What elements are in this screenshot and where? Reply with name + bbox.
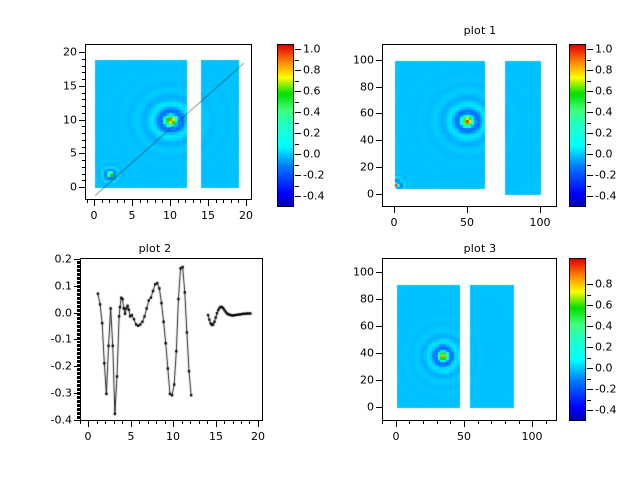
x-tick-minor [396, 421, 397, 424]
y-tick-label: -0.2 [30, 360, 72, 373]
y-tick-label: 80 [332, 81, 374, 94]
y-tick-minor [77, 418, 80, 419]
y-tick-minor [82, 72, 85, 73]
colorbar-tick-minor [587, 81, 591, 82]
y-tick-major [79, 86, 85, 87]
panel-top-right-heatmap [383, 45, 557, 207]
y-tick-major [376, 353, 382, 354]
x-tick-label: 0 [391, 216, 398, 229]
colorbar-tick [295, 49, 301, 50]
x-tick-minor [505, 421, 506, 424]
x-tick-minor [200, 200, 201, 203]
colorbar-tick [295, 70, 301, 71]
y-tick-minor [77, 287, 80, 288]
colorbar-tick-minor [587, 144, 591, 145]
y-tick-minor [77, 319, 80, 320]
x-tick-minor [409, 421, 410, 424]
colorbar-tick-label: 0.6 [595, 299, 613, 312]
colorbar-tick-label: 0.8 [595, 278, 613, 291]
colorbar-tick-label: 1.0 [595, 43, 613, 56]
y-tick-major [376, 299, 382, 300]
colorbar-tick [587, 154, 593, 155]
y-tick-label: 5 [35, 147, 77, 160]
x-tick-minor [532, 421, 533, 424]
colorbar-tick-minor [587, 165, 591, 166]
colorbar-tick [587, 305, 593, 306]
y-tick-minor [77, 291, 80, 292]
y-tick-minor [77, 354, 80, 355]
panel-top-left-heatmap [86, 45, 252, 200]
colorbar-tick [295, 91, 301, 92]
colorbar-tick-label: 0.0 [595, 362, 613, 375]
y-tick-label: 100 [332, 54, 374, 67]
colorbar-tick-minor [295, 102, 299, 103]
y-tick-label: 0.2 [30, 253, 72, 266]
colorbar-tick [587, 326, 593, 327]
y-tick-minor [77, 390, 80, 391]
x-tick-minor [233, 421, 234, 424]
colorbar-tick-label: 0.4 [303, 106, 321, 119]
x-tick-label: 20 [239, 209, 253, 222]
panel-bottom-left-title: plot 2 [45, 242, 265, 255]
colorbar-tick-label: 0.4 [595, 106, 613, 119]
y-tick-major [376, 167, 382, 168]
x-tick-minor [450, 421, 451, 424]
colorbar-tick-minor [295, 165, 299, 166]
y-tick-minor [82, 66, 85, 67]
x-tick-minor [162, 200, 163, 203]
y-tick-label: 20 [332, 374, 374, 387]
y-tick-minor [77, 335, 80, 336]
colorbar-tick [587, 133, 593, 134]
x-tick-minor [97, 421, 98, 424]
y-tick-minor [77, 338, 80, 339]
colorbar-tick-minor [295, 186, 299, 187]
x-tick-minor [231, 200, 232, 203]
y-tick-minor [77, 374, 80, 375]
y-tick-minor [82, 113, 85, 114]
y-tick-minor [77, 394, 80, 395]
x-tick-minor [478, 421, 479, 424]
x-tick-minor [241, 421, 242, 424]
y-tick-major [376, 326, 382, 327]
y-tick-minor [82, 126, 85, 127]
y-tick-label: 40 [332, 134, 374, 147]
x-tick-minor [139, 421, 140, 424]
colorbar-tick-label: -0.2 [595, 383, 616, 396]
colorbar-tick-label: 0.2 [595, 127, 613, 140]
y-tick-minor [77, 346, 80, 347]
y-tick-label: 0.1 [30, 280, 72, 293]
y-tick-minor [77, 299, 80, 300]
colorbar-tick [295, 175, 301, 176]
y-tick-minor [77, 263, 80, 264]
colorbar-tick-minor [295, 123, 299, 124]
panel-top-right-colorbar [569, 44, 586, 207]
panel-top-right-title: plot 1 [370, 24, 590, 37]
x-tick-minor [216, 200, 217, 203]
y-tick-minor [77, 285, 80, 286]
figure-canvas: 0510152005101520 1.00.80.60.40.20.0-0.2-… [0, 0, 640, 480]
colorbar-tick [587, 347, 593, 348]
colorbar-tick-minor [587, 316, 591, 317]
colorbar-tick-minor [587, 379, 591, 380]
colorbar-tick-label: 0.8 [303, 64, 321, 77]
x-tick-minor [124, 200, 125, 203]
colorbar-tick-minor [587, 400, 591, 401]
y-tick-major [376, 272, 382, 273]
panel-top-left-colorbar-gradient [278, 45, 294, 207]
colorbar-tick-label: 0.0 [595, 148, 613, 161]
x-tick-minor [182, 421, 183, 424]
panel-bottom-right-title: plot 3 [370, 242, 590, 255]
colorbar-tick-label: 0.2 [595, 341, 613, 354]
x-tick-minor [423, 421, 424, 424]
y-tick-minor [82, 180, 85, 181]
x-tick-label: 0 [85, 430, 92, 443]
colorbar-tick [587, 175, 593, 176]
x-tick-minor [109, 200, 110, 203]
y-tick-major [376, 60, 382, 61]
y-tick-major [74, 339, 80, 340]
y-tick-major [376, 113, 382, 114]
colorbar-tick [587, 91, 593, 92]
y-tick-minor [77, 378, 80, 379]
y-tick-minor [77, 307, 80, 308]
x-tick-minor [94, 200, 95, 203]
colorbar-tick [295, 112, 301, 113]
colorbar-tick [295, 154, 301, 155]
y-tick-minor [77, 358, 80, 359]
y-tick-major [74, 366, 80, 367]
x-tick-label: 5 [129, 209, 136, 222]
x-tick-minor [258, 421, 259, 424]
y-tick-minor [82, 140, 85, 141]
y-tick-minor [77, 323, 80, 324]
y-tick-minor [77, 350, 80, 351]
panel-top-right-axes [382, 44, 557, 207]
x-tick-minor [249, 421, 250, 424]
x-tick-minor [491, 421, 492, 424]
y-tick-minor [82, 59, 85, 60]
y-tick-label: 15 [35, 80, 77, 93]
colorbar-tick-minor [295, 60, 299, 61]
y-tick-minor [82, 93, 85, 94]
colorbar-tick-label: 0.8 [595, 64, 613, 77]
x-tick-minor [156, 421, 157, 424]
y-tick-minor [77, 365, 80, 366]
y-tick-minor [77, 410, 80, 411]
x-tick-minor [178, 200, 179, 203]
x-tick-minor [216, 421, 217, 424]
x-tick-minor [199, 421, 200, 424]
y-tick-label: 80 [332, 293, 374, 306]
x-tick-minor [165, 421, 166, 424]
x-tick-minor [193, 200, 194, 203]
x-tick-minor [519, 421, 520, 424]
y-tick-major [376, 194, 382, 195]
y-tick-major [376, 87, 382, 88]
x-tick-major [394, 207, 395, 213]
y-tick-label: 20 [35, 46, 77, 59]
y-tick-minor [77, 275, 80, 276]
colorbar-tick [587, 70, 593, 71]
y-tick-label: 40 [332, 347, 374, 360]
x-tick-minor [122, 421, 123, 424]
y-tick-label: 100 [332, 266, 374, 279]
colorbar-tick [295, 196, 301, 197]
x-tick-minor [224, 421, 225, 424]
colorbar-tick-label: 1.0 [303, 43, 321, 56]
y-tick-minor [77, 311, 80, 312]
colorbar-tick-minor [295, 81, 299, 82]
colorbar-tick-minor [587, 102, 591, 103]
y-tick-minor [77, 414, 80, 415]
y-tick-major [376, 407, 382, 408]
x-tick-label: 100 [522, 430, 543, 443]
colorbar-tick-label: 0.2 [303, 127, 321, 140]
y-tick-minor [82, 167, 85, 168]
colorbar-tick-label: -0.2 [595, 169, 616, 182]
panel-top-left: 0510152005101520 1.00.80.60.40.20.0-0.2-… [0, 0, 320, 240]
x-tick-label: 15 [209, 430, 223, 443]
y-tick-minor [82, 147, 85, 148]
y-tick-label: 60 [332, 320, 374, 333]
y-tick-minor [82, 133, 85, 134]
y-tick-minor [77, 327, 80, 328]
y-tick-label: 0 [332, 188, 374, 201]
x-tick-label: 100 [530, 216, 551, 229]
x-tick-minor [147, 200, 148, 203]
x-tick-minor [102, 200, 103, 203]
y-tick-minor [77, 283, 80, 284]
y-tick-label: -0.1 [30, 333, 72, 346]
panel-bottom-right-heatmap [383, 259, 557, 421]
x-tick-minor [155, 200, 156, 203]
panel-bottom-right-colorbar [569, 258, 586, 421]
x-tick-minor [437, 421, 438, 424]
colorbar-tick-minor [295, 144, 299, 145]
x-tick-minor [132, 200, 133, 203]
panel-top-left-axes [85, 44, 252, 200]
colorbar-tick [587, 49, 593, 50]
colorbar-tick [587, 112, 593, 113]
x-tick-label: 10 [163, 209, 177, 222]
y-tick-label: -0.3 [30, 387, 72, 400]
y-tick-minor [77, 406, 80, 407]
x-tick-label: 0 [393, 430, 400, 443]
y-tick-minor [77, 342, 80, 343]
colorbar-tick-minor [587, 358, 591, 359]
x-tick-minor [238, 200, 239, 203]
y-tick-minor [77, 392, 80, 393]
y-tick-major [79, 52, 85, 53]
x-tick-minor [464, 421, 465, 424]
y-tick-major [79, 153, 85, 154]
y-tick-label: 20 [332, 161, 374, 174]
x-tick-minor [105, 421, 106, 424]
y-tick-minor [77, 398, 80, 399]
y-tick-minor [82, 174, 85, 175]
y-tick-label: -0.4 [30, 414, 72, 427]
y-tick-major [376, 140, 382, 141]
x-tick-minor [140, 200, 141, 203]
x-tick-minor [190, 421, 191, 424]
y-tick-minor [77, 382, 80, 383]
y-tick-minor [77, 295, 80, 296]
panel-bottom-right-colorbar-gradient [570, 259, 586, 421]
x-tick-minor [131, 421, 132, 424]
colorbar-tick-label: 0.6 [595, 85, 613, 98]
y-tick-minor [82, 160, 85, 161]
y-tick-label: 0.0 [30, 307, 72, 320]
colorbar-tick [587, 410, 593, 411]
y-tick-label: 10 [35, 114, 77, 127]
panel-top-left-colorbar [277, 44, 294, 207]
y-tick-minor [77, 315, 80, 316]
x-tick-minor [382, 421, 383, 424]
colorbar-tick-label: 0.6 [303, 85, 321, 98]
x-tick-major [540, 207, 541, 213]
y-tick-minor [77, 402, 80, 403]
colorbar-tick [587, 368, 593, 369]
y-tick-minor [82, 99, 85, 100]
y-tick-minor [77, 303, 80, 304]
x-tick-minor [185, 200, 186, 203]
x-tick-label: 50 [460, 216, 474, 229]
colorbar-tick [295, 133, 301, 134]
colorbar-tick [587, 284, 593, 285]
colorbar-tick-minor [587, 60, 591, 61]
x-tick-minor [88, 421, 89, 424]
x-tick-minor [173, 421, 174, 424]
x-tick-minor [208, 200, 209, 203]
y-tick-minor [77, 279, 80, 280]
y-tick-minor [77, 370, 80, 371]
colorbar-tick-minor [587, 295, 591, 296]
y-tick-label: 60 [332, 107, 374, 120]
panel-bottom-right-axes [382, 258, 557, 421]
panel-bottom-right: plot 3 020406080100050100 0.80.60.40.20.… [320, 240, 640, 480]
panel-bottom-left-axes [80, 258, 263, 421]
colorbar-tick-minor [587, 186, 591, 187]
x-tick-label: 10 [166, 430, 180, 443]
colorbar-tick-minor [587, 337, 591, 338]
x-tick-minor [170, 200, 171, 203]
y-tick-label: 0 [35, 181, 77, 194]
colorbar-tick-label: -0.4 [595, 190, 616, 203]
colorbar-tick [587, 389, 593, 390]
x-tick-label: 0 [91, 209, 98, 222]
y-tick-minor [77, 331, 80, 332]
x-tick-label: 5 [128, 430, 135, 443]
colorbar-tick-label: 0.0 [303, 148, 321, 161]
panel-bottom-left: plot 2 0.20.10.0-0.1-0.2-0.3-0.405101520 [0, 240, 320, 480]
x-tick-label: 20 [251, 430, 265, 443]
y-tick-minor [82, 79, 85, 80]
y-tick-major [79, 187, 85, 188]
x-tick-minor [117, 200, 118, 203]
colorbar-tick-label: 0.4 [595, 320, 613, 333]
x-tick-label: 50 [457, 430, 471, 443]
x-tick-major [467, 207, 468, 213]
panel-top-right-colorbar-gradient [570, 45, 586, 207]
x-tick-label: 15 [201, 209, 215, 222]
colorbar-tick-minor [587, 123, 591, 124]
colorbar-tick-label: -0.4 [595, 404, 616, 417]
y-tick-major [79, 120, 85, 121]
colorbar-tick [587, 196, 593, 197]
y-tick-minor [82, 106, 85, 107]
y-tick-major [74, 259, 80, 260]
y-tick-minor [77, 362, 80, 363]
x-tick-minor [148, 421, 149, 424]
x-tick-minor [546, 421, 547, 424]
y-tick-minor [77, 386, 80, 387]
panel-top-right: plot 1 020406080100050100 1.00.80.60.40.… [320, 0, 640, 240]
x-tick-minor [87, 200, 88, 203]
y-tick-minor [77, 271, 80, 272]
x-tick-minor [80, 421, 81, 424]
x-tick-minor [246, 200, 247, 203]
x-tick-minor [114, 421, 115, 424]
y-tick-label: 0 [332, 401, 374, 414]
y-tick-minor [77, 267, 80, 268]
panel-bottom-left-lineplot [81, 259, 263, 421]
y-tick-major [376, 380, 382, 381]
x-tick-minor [223, 200, 224, 203]
x-tick-minor [207, 421, 208, 424]
